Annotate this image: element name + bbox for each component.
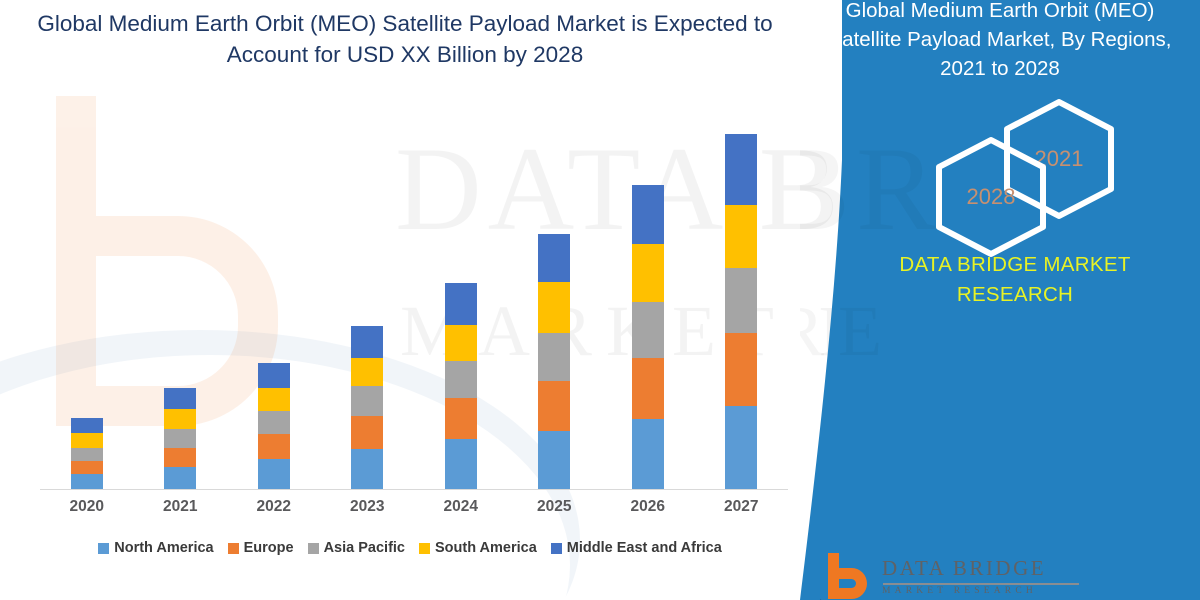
branding-panel-title: Global Medium Earth Orbit (MEO) Satellit… — [814, 0, 1186, 83]
bar-segment — [725, 134, 757, 205]
x-axis-label: 2027 — [696, 498, 786, 516]
bar-segment — [632, 419, 664, 489]
bar-segment — [538, 333, 570, 381]
hexagon-badge-lower: 2028 — [928, 134, 1054, 260]
legend-swatch-icon — [98, 543, 109, 554]
legend-item[interactable]: South America — [419, 540, 537, 556]
bar-stack — [258, 363, 290, 489]
legend-item-label: Europe — [244, 540, 294, 556]
x-axis-label: 2022 — [229, 498, 319, 516]
bar-segment — [538, 381, 570, 431]
bar-segment — [164, 467, 196, 489]
plot-area — [40, 100, 788, 490]
footer-logo-rule — [883, 583, 1079, 585]
x-axis: 20202021202220232024202520262027 — [40, 498, 788, 524]
page-title: Global Medium Earth Orbit (MEO) Satellit… — [20, 8, 790, 70]
bar-segment — [71, 418, 103, 433]
x-axis-label: 2024 — [416, 498, 506, 516]
legend-item-label: North America — [114, 540, 213, 556]
bar-stack — [632, 185, 664, 489]
bar-segment — [71, 448, 103, 461]
data-bridge-b-logo-icon — [822, 552, 874, 600]
legend-swatch-icon — [228, 543, 239, 554]
legend-swatch-icon — [308, 543, 319, 554]
brand-name: DATA BRIDGE MARKET RESEARCH — [870, 250, 1160, 310]
bar-segment — [258, 363, 290, 388]
bar-segment — [632, 185, 664, 243]
bar-segment — [164, 429, 196, 447]
bar-segment — [538, 234, 570, 282]
legend-item-label: Middle East and Africa — [567, 540, 722, 556]
bar-segment — [164, 448, 196, 468]
bar-stack — [725, 134, 757, 489]
x-axis-label: 2026 — [603, 498, 693, 516]
legend-item-label: South America — [435, 540, 537, 556]
bar-stack — [164, 388, 196, 489]
bar-segment — [538, 282, 570, 333]
bar-segment — [71, 474, 103, 489]
legend-item-label: Asia Pacific — [324, 540, 405, 556]
bar-stack — [538, 234, 570, 489]
legend-item[interactable]: Middle East and Africa — [551, 540, 722, 556]
footer-logo: DATA BRIDGE MARKET RESEARCH — [822, 552, 1122, 600]
legend-item[interactable]: Europe — [228, 540, 294, 556]
bar-segment — [445, 283, 477, 324]
x-axis-label: 2025 — [509, 498, 599, 516]
bar-segment — [538, 431, 570, 489]
x-axis-label: 2021 — [135, 498, 225, 516]
bar-segment — [351, 326, 383, 358]
bar-segment — [258, 411, 290, 434]
bar-segment — [164, 409, 196, 429]
legend-swatch-icon — [551, 543, 562, 554]
bar-segment — [445, 398, 477, 439]
bar-stack — [351, 326, 383, 489]
legend-item[interactable]: Asia Pacific — [308, 540, 405, 556]
x-axis-label: 2023 — [322, 498, 412, 516]
bar-segment — [632, 302, 664, 358]
chart-legend: North AmericaEuropeAsia PacificSouth Ame… — [30, 540, 790, 556]
x-axis-label: 2020 — [42, 498, 132, 516]
bar-segment — [71, 461, 103, 474]
bar-stack — [445, 283, 477, 489]
bar-segment — [725, 268, 757, 333]
bar-segment — [351, 416, 383, 449]
bar-segment — [445, 325, 477, 361]
bar-segment — [725, 333, 757, 406]
bar-segment — [445, 361, 477, 397]
legend-item[interactable]: North America — [98, 540, 213, 556]
bar-segment — [445, 439, 477, 489]
bar-segment — [258, 434, 290, 459]
branding-panel: BR RE Global Medium Earth Orbit (MEO) Sa… — [800, 0, 1200, 600]
bar-segment — [258, 459, 290, 489]
bar-segment — [258, 388, 290, 411]
hexagon-lower-label: 2028 — [928, 134, 1054, 260]
bar-segment — [351, 386, 383, 416]
axis-baseline — [40, 489, 788, 490]
footer-logo-title: DATA BRIDGE — [882, 556, 1112, 581]
footer-logo-subtitle: MARKET RESEARCH — [882, 586, 1112, 596]
chart-infographic: DATA BRIDGE MARKET RESEARCH Global Mediu… — [0, 0, 1200, 600]
bar-segment — [632, 244, 664, 302]
bar-segment — [725, 205, 757, 268]
bar-segment — [164, 388, 196, 410]
bar-stack — [71, 418, 103, 489]
bar-segment — [632, 358, 664, 419]
bar-segment — [725, 406, 757, 489]
legend-swatch-icon — [419, 543, 430, 554]
watermark-right-line1: BR — [800, 120, 942, 258]
chart-panel: DATA BRIDGE MARKET RESEARCH Global Mediu… — [0, 0, 860, 600]
bar-segment — [71, 433, 103, 448]
bar-segment — [351, 449, 383, 489]
bar-segment — [351, 358, 383, 386]
